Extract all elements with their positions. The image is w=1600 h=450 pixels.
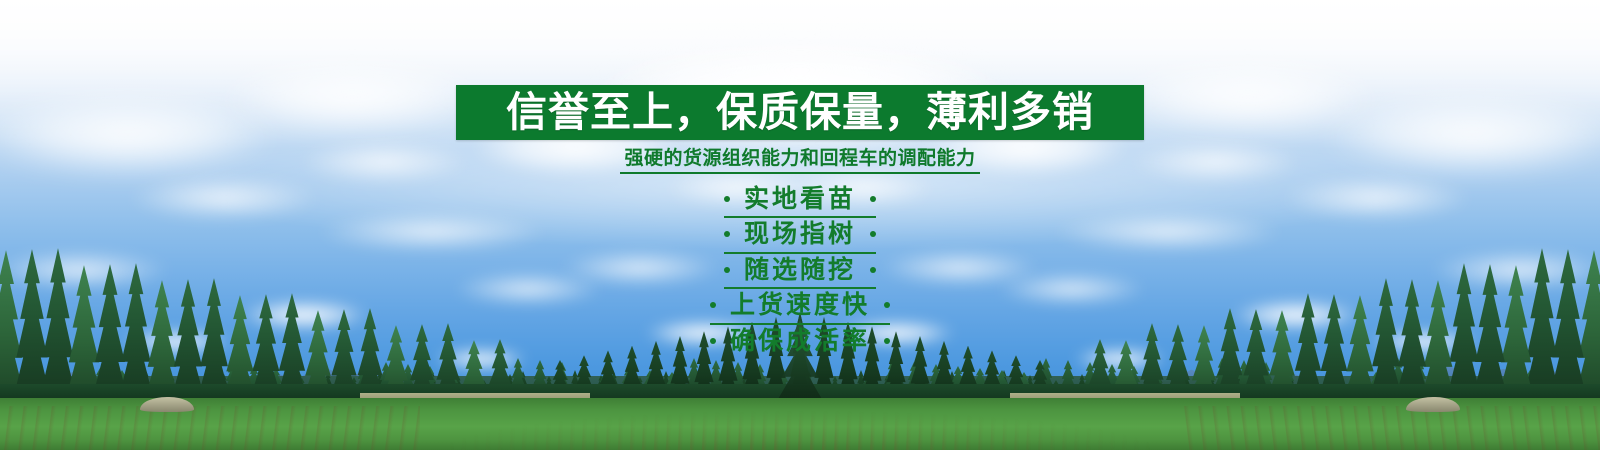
feature-list: 实地看苗现场指树随选随挖上货速度快确保成活率 [710,183,890,359]
feature-label: 上货速度快 [730,290,870,320]
feature-item: 随选随挖 [724,254,876,290]
bullet-dot-icon [724,267,730,273]
bullet-dot-icon [870,231,876,237]
bullet-dot-icon [710,302,716,308]
bullet-dot-icon [710,338,716,344]
feature-label: 实地看苗 [744,184,856,214]
banner-content: 信誉至上，保质保量，薄利多销 强硬的货源组织能力和回程车的调配能力 实地看苗现场… [0,0,1600,450]
headline-banner: 信誉至上，保质保量，薄利多销 [456,85,1144,140]
feature-item: 上货速度快 [710,289,890,325]
feature-item: 确保成活率 [710,325,890,359]
bullet-dot-icon [870,267,876,273]
feature-label: 随选随挖 [744,255,856,285]
bullet-dot-icon [724,231,730,237]
bullet-dot-icon [884,302,890,308]
feature-item: 实地看苗 [724,183,876,219]
promo-banner: 信誉至上，保质保量，薄利多销 强硬的货源组织能力和回程车的调配能力 实地看苗现场… [0,0,1600,450]
bullet-dot-icon [724,196,730,202]
feature-item: 现场指树 [724,218,876,254]
subheadline-text: 强硬的货源组织能力和回程车的调配能力 [620,148,979,174]
feature-label: 确保成活率 [730,326,870,356]
bullet-dot-icon [870,196,876,202]
headline-text: 信誉至上，保质保量，薄利多销 [506,92,1094,133]
feature-label: 现场指树 [744,219,856,249]
bullet-dot-icon [884,338,890,344]
